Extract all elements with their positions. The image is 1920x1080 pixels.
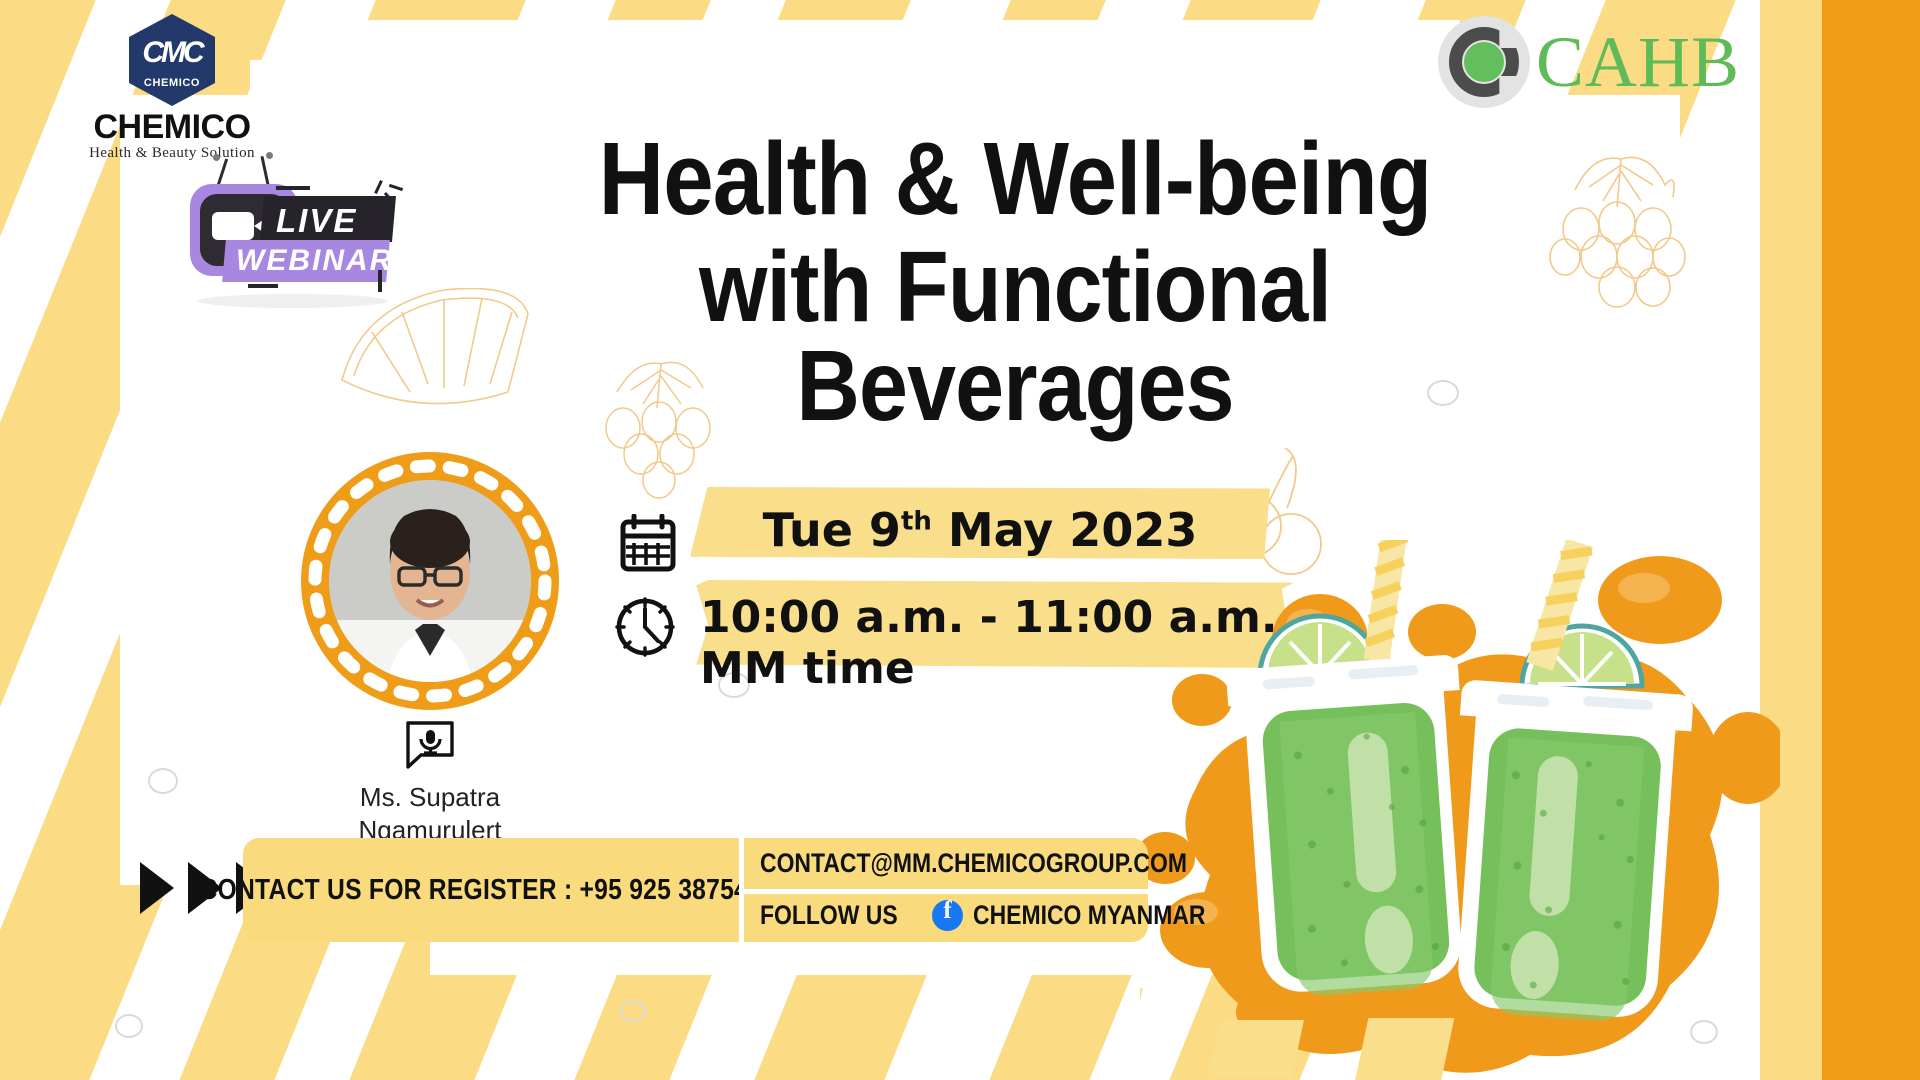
title-line-2: with Functional Beverages: [509, 238, 1521, 436]
live-webinar-badge: LIVE WEBINAR: [178, 162, 408, 312]
chemico-hex-mark: CMC CHEMICO: [129, 14, 215, 106]
right-orange-border: [1822, 0, 1920, 1080]
webinar-label: WEBINAR: [236, 244, 393, 278]
facebook-icon[interactable]: [932, 900, 963, 931]
chemico-mark-subtext: CHEMICO: [129, 77, 215, 89]
clock-icon: [614, 596, 676, 658]
chemico-tagline: Health & Beauty Solution: [72, 145, 272, 162]
bubble-decor: [620, 1000, 646, 1022]
webinar-poster: CMC CHEMICO CHEMICO Health & Beauty Solu…: [0, 0, 1920, 1080]
chemico-mark-initials: CMC: [129, 36, 215, 70]
contact-email: CONTACT@MM.CHEMICOGROUP.COM: [760, 848, 1187, 879]
facebook-page-name: CHEMICO MYANMAR: [973, 900, 1205, 931]
title-line-1: Health & Well-being: [509, 128, 1521, 230]
bubble-decor: [148, 768, 178, 794]
live-label: LIVE: [276, 202, 357, 240]
bubble-decor: [115, 1014, 143, 1038]
microphone-speech-bubble-icon: [404, 720, 456, 770]
cahb-circle-logo-icon: [1438, 16, 1530, 108]
register-contact-button[interactable]: CONTACT US FOR REGISTER : +95 925 38754 …: [243, 838, 739, 942]
speaker-portrait: [329, 480, 531, 682]
green-smoothie-jars-illustration: [1140, 540, 1780, 1080]
contact-email-row[interactable]: CONTACT@MM.CHEMICOGROUP.COM: [760, 838, 1140, 889]
speaker-block: Ms. Supatra Ngamurulert Application Mana…: [296, 452, 564, 879]
chemico-logo: CMC CHEMICO CHEMICO Health & Beauty Solu…: [72, 14, 272, 162]
cahb-wordmark: CAHB: [1536, 26, 1740, 98]
event-date-ordinal: th: [901, 507, 932, 537]
calendar-icon: [620, 514, 676, 572]
register-contact-label: CONTACT US FOR REGISTER : +95 925 38754 …: [199, 874, 783, 907]
webinar-title: Health & Well-being with Functional Beve…: [440, 128, 1590, 436]
speaker-name: Ms. Supatra Ngamurulert: [296, 781, 564, 846]
cahb-logo: CAHB: [1438, 16, 1740, 108]
avatar: [301, 452, 559, 710]
event-date-prefix: Tue 9: [763, 503, 901, 557]
chemico-wordmark: CHEMICO: [72, 108, 272, 147]
follow-us-label: FOLLOW US: [760, 900, 898, 931]
follow-us-row[interactable]: FOLLOW US CHEMICO MYANMAR: [760, 890, 1140, 941]
